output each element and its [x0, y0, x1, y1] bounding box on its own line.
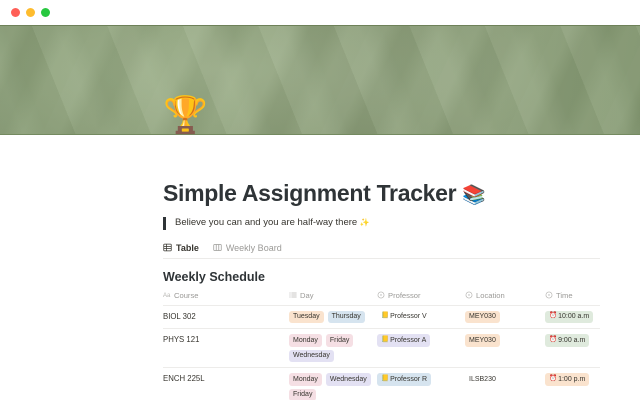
select-icon — [545, 291, 553, 301]
column-header-day-label: Day — [300, 291, 314, 300]
course-name: PHYS 121 — [163, 334, 283, 344]
table-header-row: Aa Course — [163, 291, 600, 306]
cell-course[interactable]: PHYS 121 — [163, 329, 289, 368]
select-icon — [377, 291, 385, 301]
cell-time[interactable]: ⏰1:00 p.m — [545, 368, 600, 400]
notebook-icon: 📒 — [381, 337, 389, 344]
cell-location[interactable]: ILSB230 — [465, 368, 545, 400]
time-tag-list: ⏰10:00 a.m — [545, 311, 594, 324]
column-header-location-label: Location — [476, 291, 505, 300]
table-row[interactable]: PHYS 121MondayFridayWednesday📒Professor … — [163, 329, 600, 368]
column-header-professor-label: Professor — [388, 291, 421, 300]
column-header-time-label: Time — [556, 291, 573, 300]
time-tag-list: ⏰9:00 a.m — [545, 334, 594, 347]
day-tag[interactable]: Tuesday — [289, 311, 324, 324]
cell-professor[interactable]: 📒Professor R — [377, 368, 465, 400]
sparkle-icon: ✨ — [360, 218, 370, 227]
day-tag[interactable]: Monday — [289, 373, 322, 386]
tab-table-label: Table — [176, 243, 199, 253]
cell-day[interactable]: TuesdayThursday — [289, 305, 377, 329]
page-title: Simple Assignment Tracker 📚 — [163, 181, 600, 207]
page-content: Simple Assignment Tracker 📚 Believe you … — [0, 135, 640, 400]
table-row[interactable]: BIOL 302TuesdayThursday📒Professor VMEY03… — [163, 305, 600, 329]
page-body: 🏆 Simple Assignment Tracker 📚 Believe yo… — [0, 135, 640, 400]
location-tag-list: MEY030 — [465, 334, 539, 347]
day-tag[interactable]: Thursday — [328, 311, 365, 324]
table-title: Weekly Schedule — [163, 270, 600, 284]
professor-tag-list: 📒Professor V — [377, 311, 459, 324]
column-header-professor[interactable]: Professor — [377, 291, 465, 306]
notebook-icon: 📒 — [381, 376, 389, 383]
column-header-day[interactable]: Day — [289, 291, 377, 306]
cell-day[interactable]: MondayFridayWednesday — [289, 329, 377, 368]
cover-overlay — [0, 26, 640, 134]
cell-time[interactable]: ⏰10:00 a.m — [545, 305, 600, 329]
course-name: ENCH 225L — [163, 373, 283, 383]
day-tag-list: TuesdayThursday — [289, 311, 371, 324]
column-header-time[interactable]: Time — [545, 291, 600, 306]
svg-text:Aa: Aa — [163, 293, 171, 299]
cell-location[interactable]: MEY030 — [465, 305, 545, 329]
clock-icon: ⏰ — [549, 313, 557, 320]
tab-table[interactable]: Table — [163, 243, 199, 253]
page-quote-text: Believe you can and you are half-way the… — [175, 217, 357, 228]
page-icon[interactable]: 🏆 — [163, 97, 208, 133]
location-tag-list: ILSB230 — [465, 373, 539, 386]
column-header-course[interactable]: Aa Course — [163, 291, 289, 306]
clock-icon: ⏰ — [549, 376, 557, 383]
cell-professor[interactable]: 📒Professor V — [377, 305, 465, 329]
professor-tag-list: 📒Professor A — [377, 334, 459, 347]
time-tag[interactable]: ⏰10:00 a.m — [545, 311, 593, 324]
maximize-window-button[interactable] — [41, 8, 50, 17]
professor-tag[interactable]: 📒Professor R — [377, 373, 431, 386]
multiselect-icon — [289, 291, 297, 301]
time-tag[interactable]: ⏰9:00 a.m — [545, 334, 589, 347]
tab-weekly-board[interactable]: Weekly Board — [213, 243, 282, 253]
location-tag-list: MEY030 — [465, 311, 539, 324]
course-name: BIOL 302 — [163, 311, 283, 321]
table-icon — [163, 243, 172, 252]
table-header: Aa Course — [163, 291, 600, 306]
professor-tag-list: 📒Professor R — [377, 373, 459, 386]
minimize-window-button[interactable] — [26, 8, 35, 17]
tab-weekly-board-label: Weekly Board — [226, 243, 282, 253]
view-tabs: Table Weekly Board — [163, 243, 600, 259]
page-cover-image[interactable] — [0, 25, 640, 135]
day-tag[interactable]: Friday — [289, 389, 316, 400]
cell-course[interactable]: ENCH 225L — [163, 368, 289, 400]
schedule-table: Aa Course — [163, 291, 600, 400]
cell-day[interactable]: MondayWednesdayFriday — [289, 368, 377, 400]
table-body: BIOL 302TuesdayThursday📒Professor VMEY03… — [163, 305, 600, 400]
day-tag-list: MondayFridayWednesday — [289, 334, 371, 362]
day-tag-list: MondayWednesdayFriday — [289, 373, 371, 400]
day-tag[interactable]: Friday — [326, 334, 353, 347]
cell-location[interactable]: MEY030 — [465, 329, 545, 368]
page-title-text: Simple Assignment Tracker — [163, 180, 456, 206]
location-tag[interactable]: MEY030 — [465, 334, 500, 347]
column-header-location[interactable]: Location — [465, 291, 545, 306]
professor-tag[interactable]: 📒Professor A — [377, 334, 430, 347]
column-header-course-label: Course — [174, 291, 198, 300]
table-row[interactable]: ENCH 225LMondayWednesdayFriday📒Professor… — [163, 368, 600, 400]
close-window-button[interactable] — [11, 8, 20, 17]
page-quote: Believe you can and you are half-way the… — [163, 217, 600, 230]
cell-professor[interactable]: 📒Professor A — [377, 329, 465, 368]
window-titlebar — [0, 0, 640, 25]
notebook-icon: 📒 — [381, 313, 389, 320]
select-icon — [465, 291, 473, 301]
text-type-icon: Aa — [163, 291, 171, 301]
day-tag[interactable]: Monday — [289, 334, 322, 347]
professor-tag[interactable]: 📒Professor V — [377, 311, 431, 324]
location-tag[interactable]: ILSB230 — [465, 373, 500, 386]
cell-course[interactable]: BIOL 302 — [163, 305, 289, 329]
day-tag[interactable]: Wednesday — [326, 373, 371, 386]
time-tag-list: ⏰1:00 p.m — [545, 373, 594, 386]
clock-icon: ⏰ — [549, 337, 557, 344]
time-tag[interactable]: ⏰1:00 p.m — [545, 373, 589, 386]
day-tag[interactable]: Wednesday — [289, 350, 334, 363]
cell-time[interactable]: ⏰9:00 a.m — [545, 329, 600, 368]
books-icon: 📚 — [462, 185, 485, 206]
board-icon — [213, 243, 222, 252]
location-tag[interactable]: MEY030 — [465, 311, 500, 324]
